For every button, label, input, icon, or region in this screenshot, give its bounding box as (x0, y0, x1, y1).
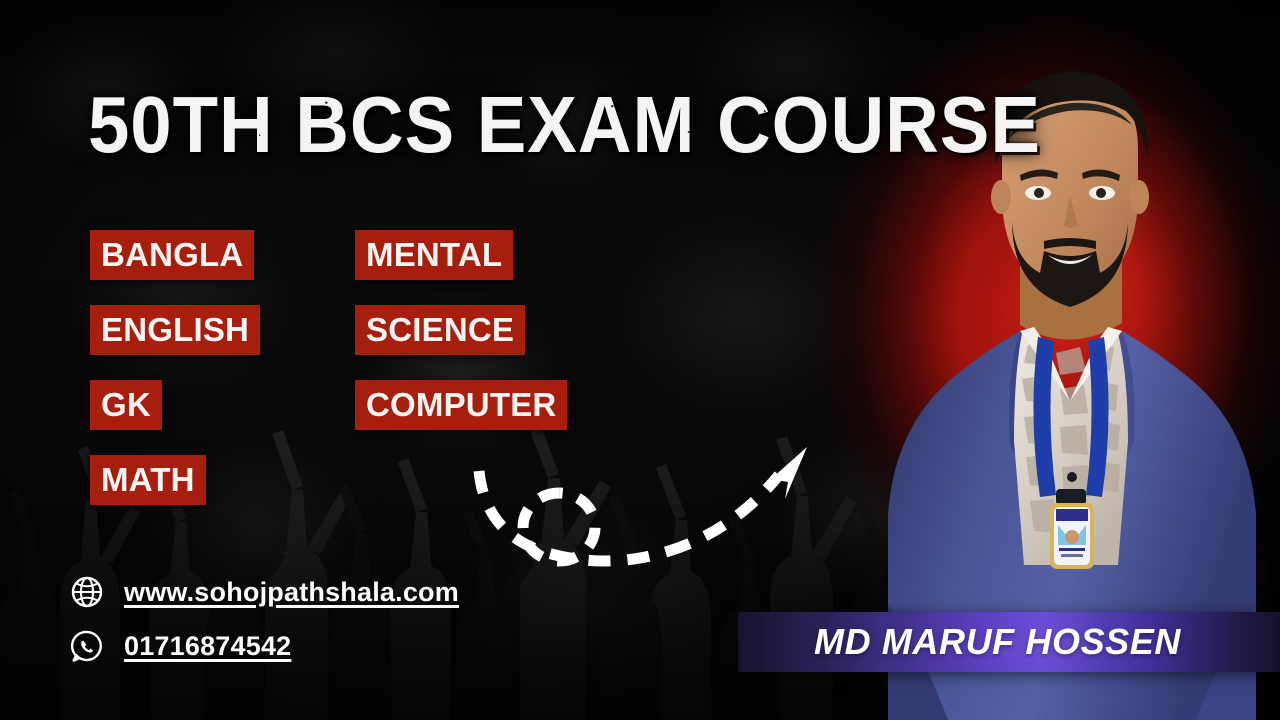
subject-tag-label: SCIENCE (355, 305, 525, 355)
subject-list-right: MENTAL SCIENCE COMPUTER (355, 230, 567, 430)
globe-icon (70, 575, 104, 609)
whatsapp-icon (70, 629, 104, 663)
subject-tag-computer[interactable]: COMPUTER (355, 380, 567, 430)
promo-banner: 50TH BCS EXAM COURSE BANGLA ENGLISH GK M… (0, 0, 1280, 720)
subject-tag-math[interactable]: MATH (90, 455, 260, 505)
subject-tag-label: MATH (90, 455, 206, 505)
subject-tag-label: BANGLA (90, 230, 254, 280)
subject-tag-science[interactable]: SCIENCE (355, 305, 567, 355)
instructor-name: MD MARUF HOSSEN (814, 622, 1181, 662)
contact-website-row[interactable]: www.sohojpathshala.com (70, 568, 459, 616)
subject-tag-bangla[interactable]: BANGLA (90, 230, 260, 280)
website-url[interactable]: www.sohojpathshala.com (124, 577, 459, 607)
page-title: 50TH BCS EXAM COURSE (88, 82, 1041, 168)
phone-number[interactable]: 01716874542 (124, 631, 291, 661)
title-text: 50TH BCS EXAM COURSE (88, 80, 1041, 169)
subject-tag-mental[interactable]: MENTAL (355, 230, 567, 280)
contact-block: www.sohojpathshala.com 01716874542 (70, 568, 459, 676)
subject-tag-label: ENGLISH (90, 305, 260, 355)
dashed-curved-arrow-icon (455, 435, 835, 580)
subject-tag-label: COMPUTER (355, 380, 567, 430)
contact-phone-row[interactable]: 01716874542 (70, 622, 459, 670)
subject-tag-english[interactable]: ENGLISH (90, 305, 260, 355)
subject-tag-label: GK (90, 380, 162, 430)
instructor-name-banner: MD MARUF HOSSEN (738, 612, 1280, 672)
subject-tag-gk[interactable]: GK (90, 380, 260, 430)
subject-tag-label: MENTAL (355, 230, 513, 280)
subject-list-left: BANGLA ENGLISH GK MATH (90, 230, 260, 505)
